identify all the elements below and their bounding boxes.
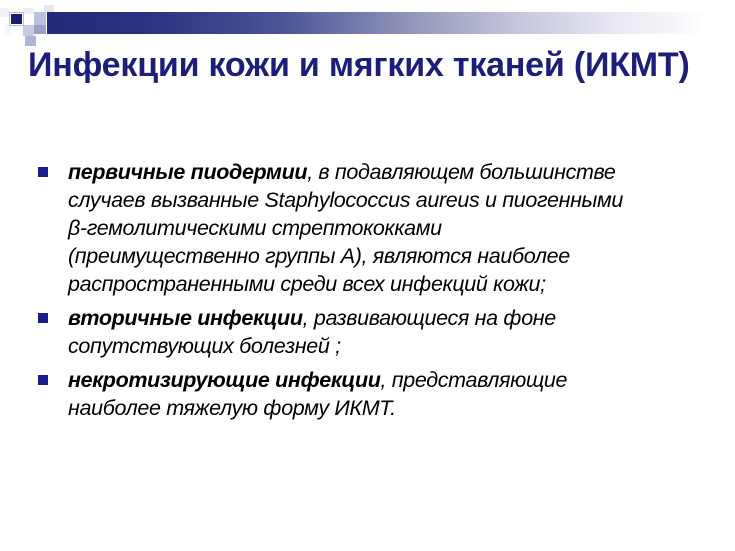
list-item-lead: некротизирующие инфекции bbox=[68, 368, 381, 392]
decor-square-lavender-3 bbox=[34, 12, 46, 25]
slide-body-list: первичные пиодермии, в подавляющем больш… bbox=[36, 158, 636, 428]
slide-header-decoration bbox=[0, 0, 735, 48]
list-item: первичные пиодермии, в подавляющем больш… bbox=[36, 158, 636, 298]
square-bullet-icon bbox=[38, 375, 48, 385]
decor-square-dark bbox=[11, 14, 22, 24]
square-bullet-icon bbox=[38, 313, 48, 323]
decor-square-pale-b bbox=[24, 8, 34, 14]
list-item: некротизирующие инфекции, представляющие… bbox=[36, 366, 636, 422]
slide-canvas: Инфекции кожи и мягких тканей (ИКМТ) пер… bbox=[0, 0, 735, 551]
decor-gradient-bar bbox=[47, 12, 735, 34]
decor-square-pale-a bbox=[0, 8, 9, 17]
decor-square-lavender-1 bbox=[23, 25, 34, 36]
slide-title: Инфекции кожи и мягких тканей (ИКМТ) bbox=[28, 45, 708, 85]
list-item: вторичные инфекции, развивающиеся на фон… bbox=[36, 304, 636, 360]
square-bullet-icon bbox=[38, 167, 48, 177]
list-item-lead: вторичные инфекции bbox=[68, 306, 303, 330]
decor-square-lavender-6 bbox=[5, 25, 11, 35]
list-item-lead: первичные пиодермии bbox=[68, 160, 307, 184]
decor-square-lavender-2 bbox=[34, 25, 46, 34]
